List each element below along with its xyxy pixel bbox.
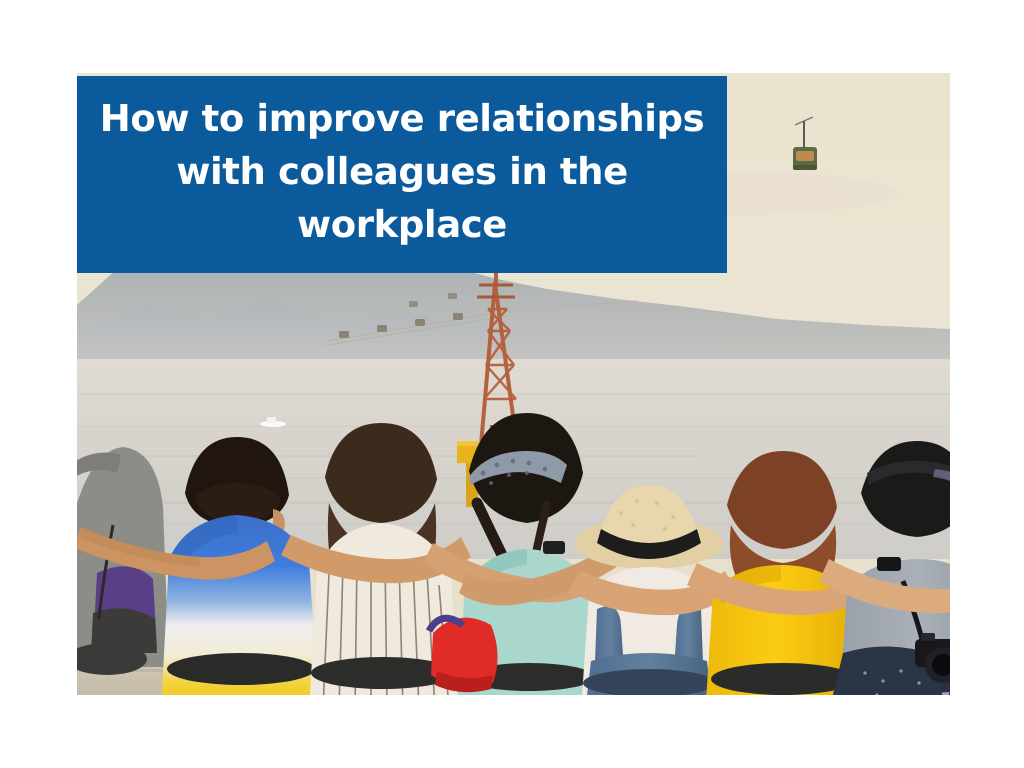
wristwatch-2	[877, 557, 901, 571]
title-banner: How to improve relationships with collea…	[77, 76, 727, 273]
red-shoulder-bag	[429, 618, 498, 693]
wristwatch	[543, 541, 565, 554]
page-title: How to improve relationships with collea…	[91, 92, 713, 251]
slide-canvas: How to improve relationships with collea…	[0, 0, 1024, 768]
